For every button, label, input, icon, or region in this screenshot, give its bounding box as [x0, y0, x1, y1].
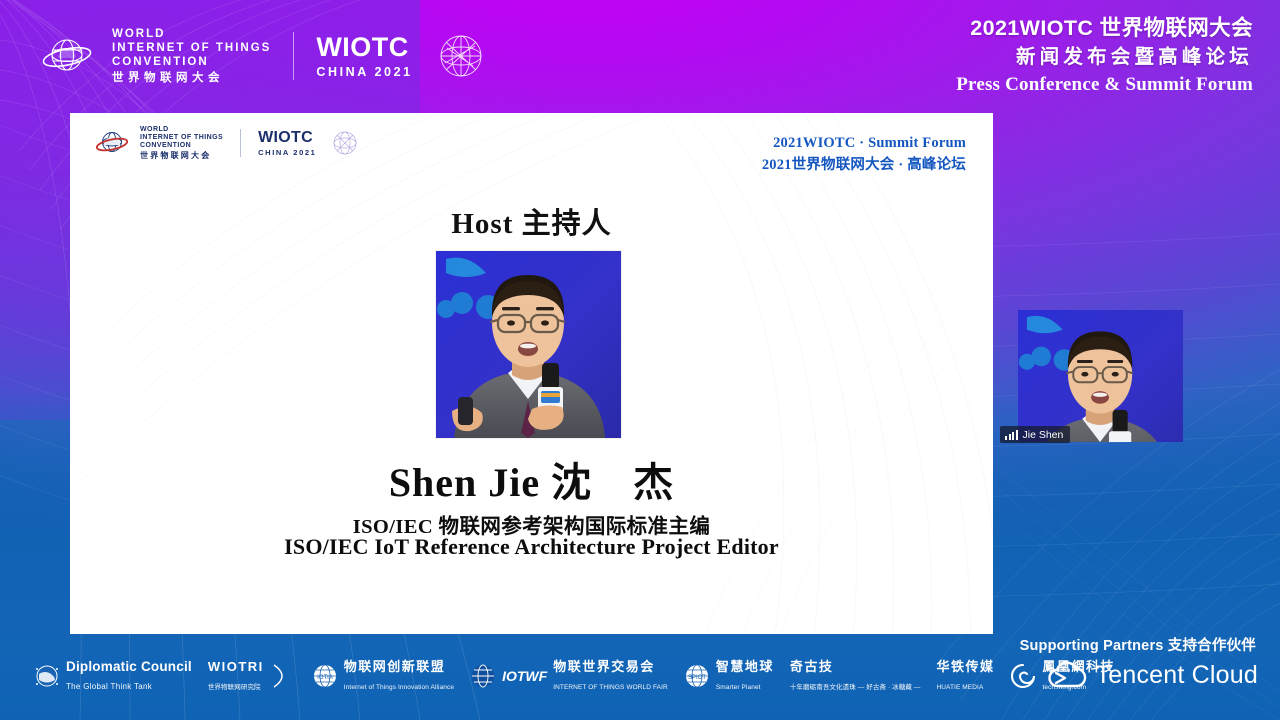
sponsor-qiguji: 奇古技 十年磨砺南吾文化遗珠 — 好古斋 · 冰糖藏 — — [790, 658, 921, 694]
sponsor-tagline: HUATIE MEDIA — [936, 684, 983, 691]
sponsor-tagline: Smarter Planet — [716, 684, 761, 691]
sponsor-name: 智慧地球 — [716, 659, 774, 674]
slide-forum-label: 2021WIOTC · Summit Forum 2021世界物联网大会 · 高… — [762, 133, 966, 177]
spiot-globe-icon: SPIOT — [684, 663, 710, 689]
event-logo-words: WORLD INTERNET OF THINGS CONVENTION 世界物联… — [112, 27, 271, 85]
slide-logo-divider — [240, 129, 241, 157]
sponsor-name: 华铁传媒 — [936, 659, 994, 674]
sponsor-logo-row: Diplomatic Council The Global Think Tank… — [34, 658, 1115, 694]
slide-logo-words: WORLD INTERNET OF THINGS CONVENTION 世界物联… — [140, 126, 223, 161]
sponsor-name: 物联网创新联盟 — [344, 659, 446, 674]
sponsor-name: 物联世界交易会 — [553, 659, 655, 674]
globe-ring-icon — [38, 32, 96, 80]
slide-brand-sub: CHINA 2021 — [258, 149, 316, 157]
globe-ring-icon — [94, 128, 130, 158]
speaker-role-en: ISO/IEC IoT Reference Architecture Proje… — [70, 534, 993, 560]
iotwf-globe-icon — [470, 663, 496, 689]
wireframe-sphere-icon — [331, 129, 359, 157]
sponsor-tagline: INTERNET OF THINGS WORLD FAIR — [553, 684, 668, 691]
speaker-portrait — [436, 251, 621, 438]
forum-label-en: 2021WIOTC · Summit Forum — [762, 133, 966, 155]
svg-text:IOTIA: IOTIA — [317, 675, 333, 681]
ifeng-swirl-icon — [1010, 663, 1036, 689]
speaker-name: Shen Jie 沈 杰 — [70, 450, 993, 508]
event-title-line-2: 新闻发布会暨高峰论坛 — [956, 43, 1253, 72]
participant-name-badge: Jie Shen — [1000, 426, 1070, 443]
iotia-globe-icon: IOTIA — [312, 663, 338, 689]
tencent-cloud-icon — [1047, 660, 1087, 690]
slide-logo-line-3: CONVENTION — [140, 142, 223, 150]
presentation-stage: WORLD INTERNET OF THINGS CONVENTION 世界物联… — [0, 0, 1280, 720]
globe-dots-icon — [34, 663, 60, 689]
tencent-cloud-logo: Tencent Cloud — [1047, 660, 1258, 690]
logo-divider — [293, 32, 294, 80]
sponsor-huatie-media: 华铁传媒 HUATIE MEDIA — [936, 658, 994, 694]
participant-video-tile[interactable] — [1018, 310, 1183, 442]
event-brand-block: WIOTC CHINA 2021 — [316, 33, 412, 78]
slide-logo-line-cn: 世界物联网大会 — [140, 151, 223, 160]
participant-name: Jie Shen — [1023, 429, 1064, 441]
sponsor-iotwf: IOTWF 物联世界交易会 INTERNET OF THINGS WORLD F… — [470, 658, 668, 694]
sponsor-tagline: The Global Think Tank — [66, 682, 152, 691]
forum-label-cn: 2021世界物联网大会 · 高峰论坛 — [762, 155, 966, 177]
sponsor-badge: IOTWF — [502, 668, 547, 684]
sponsor-iot-innovation-alliance: IOTIA 物联网创新联盟 Internet of Things Innovat… — [312, 658, 454, 694]
sponsor-diplomatic-council: Diplomatic Council The Global Think Tank — [34, 658, 192, 694]
slide-logo-lockup: WORLD INTERNET OF THINGS CONVENTION 世界物联… — [94, 126, 359, 161]
sponsor-name: 奇古技 — [790, 659, 834, 674]
slide-logo-line-2: INTERNET OF THINGS — [140, 134, 223, 142]
event-logo-lockup: WORLD INTERNET OF THINGS CONVENTION 世界物联… — [38, 27, 487, 85]
sponsor-tagline: Internet of Things Innovation Alliance — [344, 684, 454, 691]
logo-line-2: INTERNET OF THINGS — [112, 41, 271, 55]
tencent-cloud-name: Tencent Cloud — [1096, 661, 1258, 690]
sponsor-wiotri: WIOTRI 世界物联网研究院 — [208, 658, 296, 694]
brand-sub: CHINA 2021 — [316, 66, 412, 79]
brand-name: WIOTC — [316, 33, 412, 61]
logo-line-1: WORLD — [112, 27, 271, 41]
slide-brand-block: WIOTC CHINA 2021 — [258, 130, 316, 157]
audio-level-bars-icon — [1005, 430, 1018, 440]
slide-canvas[interactable]: WORLD INTERNET OF THINGS CONVENTION 世界物联… — [70, 113, 993, 634]
sponsor-tagline: 十年磨砺南吾文化遗珠 — 好古斋 · 冰糖藏 — — [790, 684, 921, 691]
slide-logo-line-1: WORLD — [140, 126, 223, 134]
logo-line-3: CONVENTION — [112, 55, 271, 69]
logo-line-cn: 世界物联网大会 — [112, 71, 271, 85]
sponsor-name: Diplomatic Council — [66, 659, 192, 674]
wiotri-icon — [270, 663, 296, 689]
event-title-block: 2021WIOTC 世界物联网大会 新闻发布会暨高峰论坛 Press Confe… — [956, 14, 1253, 98]
event-title-line-1: 2021WIOTC 世界物联网大会 — [956, 14, 1253, 43]
event-title-line-3: Press Conference & Summit Forum — [956, 72, 1253, 98]
wireframe-sphere-icon — [435, 30, 487, 82]
sponsor-tagline: 世界物联网研究院 — [208, 684, 261, 691]
sponsor-smarter-planet: SPIOT 智慧地球 Smarter Planet — [684, 658, 774, 694]
slide-brand-name: WIOTC — [258, 130, 316, 146]
svg-text:SPIOT: SPIOT — [688, 675, 706, 681]
supporting-partners-label: Supporting Partners 支持合作伙伴 — [1020, 634, 1256, 655]
sponsor-name: WIOTRI — [208, 659, 264, 674]
host-heading: Host 主持人 — [70, 200, 993, 242]
